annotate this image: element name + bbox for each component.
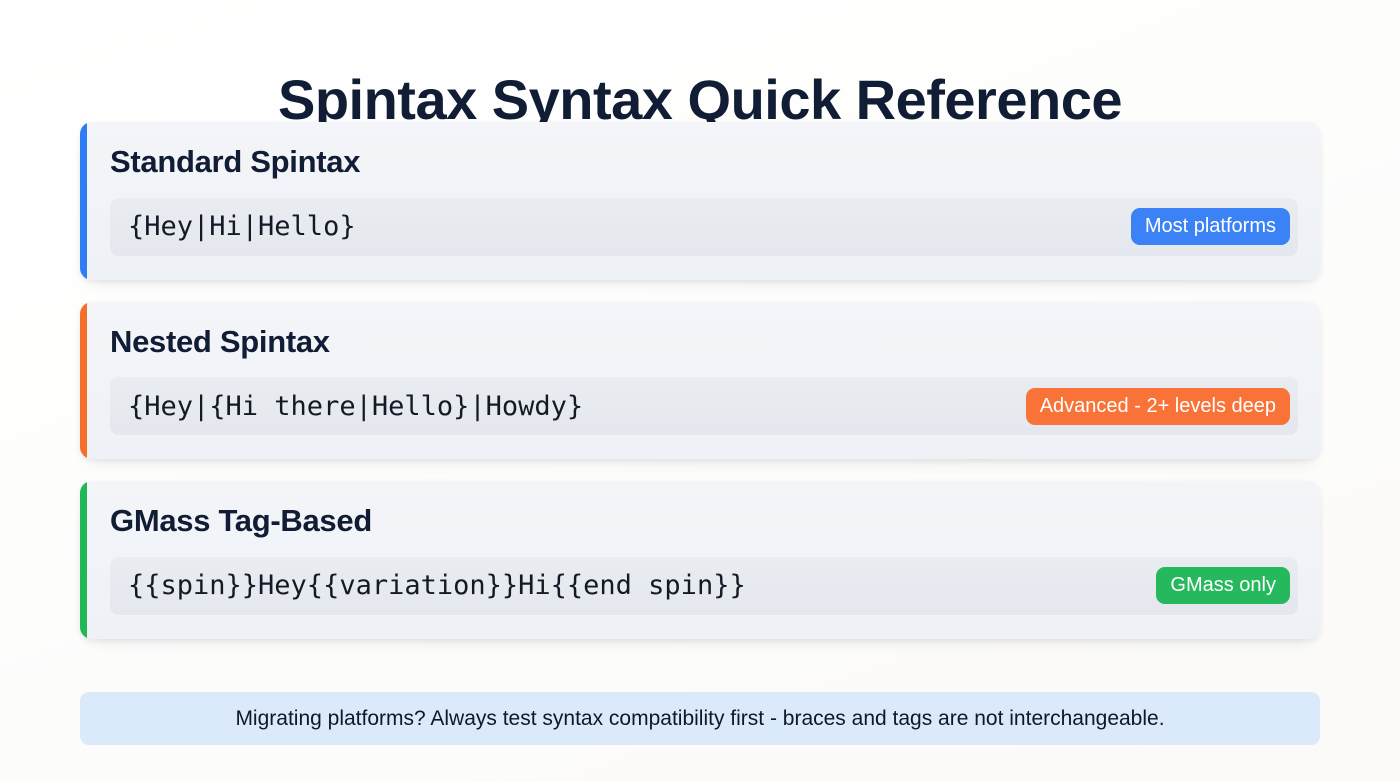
code-example-row: {Hey|{Hi there|Hello}|Howdy} Advanced - …	[110, 377, 1298, 435]
card-title: GMass Tag-Based	[110, 503, 1298, 539]
code-snippet[interactable]: {Hey|Hi|Hello}	[128, 209, 356, 244]
syntax-card: Standard Spintax {Hey|Hi|Hello} Most pla…	[80, 122, 1320, 280]
compatibility-badge: GMass only	[1156, 567, 1290, 604]
syntax-card-list: Standard Spintax {Hey|Hi|Hello} Most pla…	[80, 122, 1320, 639]
compatibility-badge: Most platforms	[1131, 208, 1290, 245]
card-accent-bar	[80, 122, 87, 280]
migration-note-banner: Migrating platforms? Always test syntax …	[80, 692, 1320, 745]
syntax-card: GMass Tag-Based {{spin}}Hey{{variation}}…	[80, 481, 1320, 639]
card-accent-bar	[80, 302, 87, 460]
code-example-row: {Hey|Hi|Hello} Most platforms	[110, 198, 1298, 256]
card-accent-bar	[80, 481, 87, 639]
syntax-card: Nested Spintax {Hey|{Hi there|Hello}|How…	[80, 302, 1320, 460]
quick-reference-page: Spintax Syntax Quick Reference Standard …	[0, 0, 1400, 781]
migration-note-text: Migrating platforms? Always test syntax …	[235, 707, 1164, 731]
compatibility-badge: Advanced - 2+ levels deep	[1026, 388, 1290, 425]
card-title: Nested Spintax	[110, 324, 1298, 360]
code-example-row: {{spin}}Hey{{variation}}Hi{{end spin}} G…	[110, 557, 1298, 615]
card-title: Standard Spintax	[110, 144, 1298, 180]
code-snippet[interactable]: {Hey|{Hi there|Hello}|Howdy}	[128, 389, 583, 424]
code-snippet[interactable]: {{spin}}Hey{{variation}}Hi{{end spin}}	[128, 568, 746, 603]
